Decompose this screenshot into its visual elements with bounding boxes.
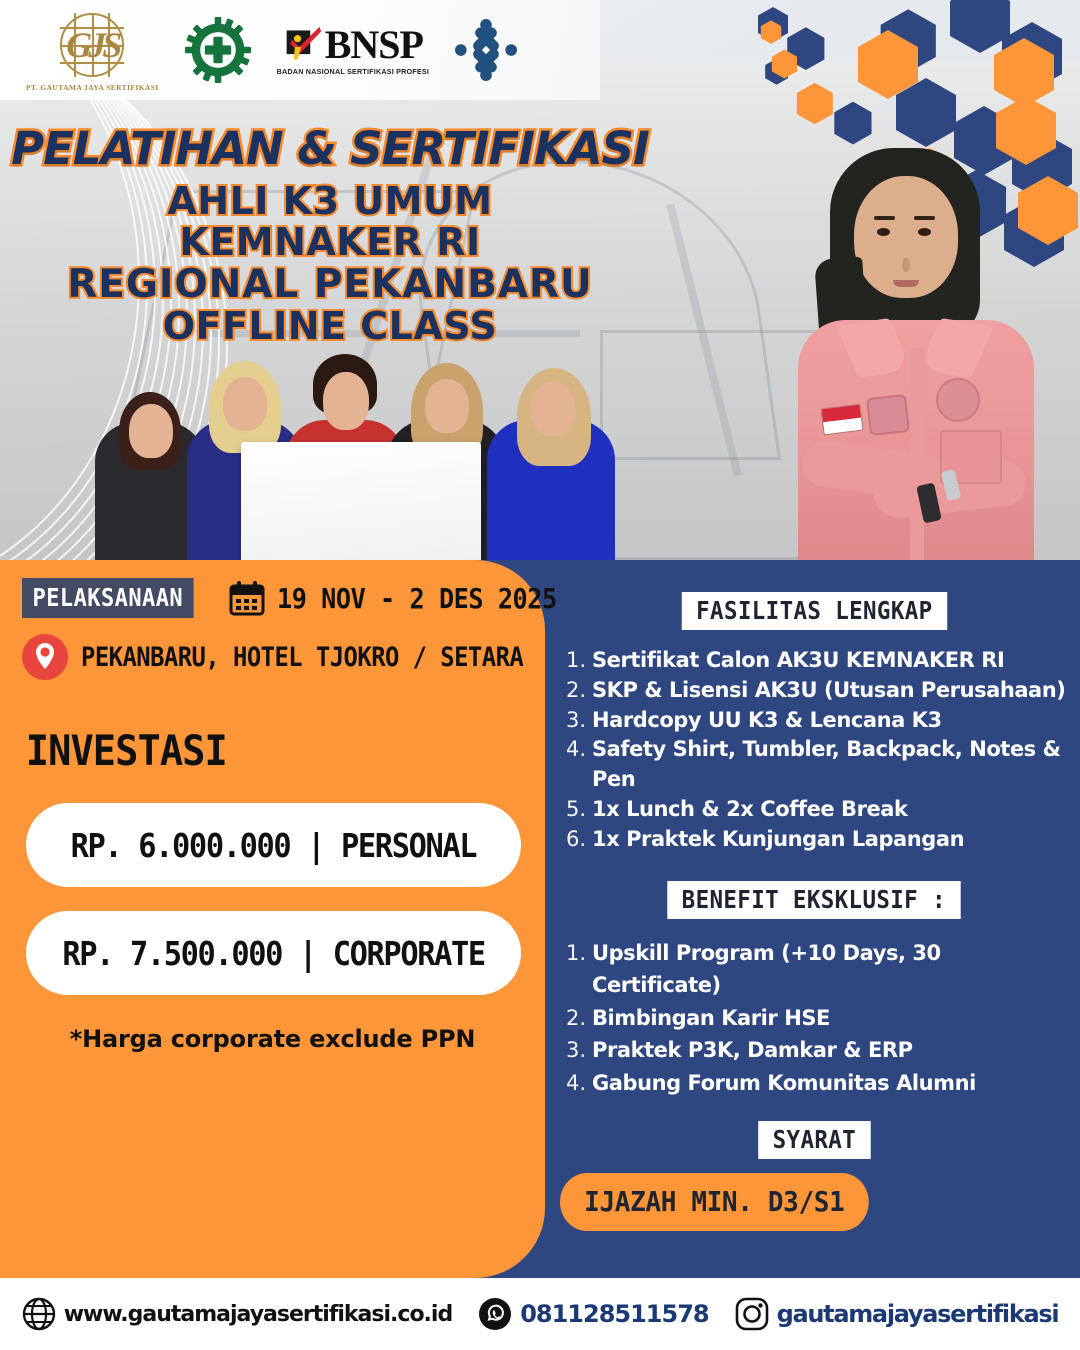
ppn-note: *Harga corporate exclude PPN [0, 1025, 545, 1053]
instagram-handle: gautamajayasertifikasi [777, 1300, 1059, 1328]
benefit-text: Praktek P3K, Damkar & ERP [592, 1034, 913, 1067]
list-item: Hardcopy UU K3 & Lencana K3 [566, 706, 1076, 736]
list-item: Gabung Forum Komunitas Alumni [566, 1067, 1076, 1100]
gear-icon [185, 17, 251, 83]
title-line-mode: OFFLINE CLASS [0, 306, 660, 347]
list-item: Upskill Program (+10 Days, 30 Certificat… [566, 937, 1076, 1002]
benefit-text: Upskill Program (+10 Days, 30 Certificat… [592, 937, 1076, 1002]
indonesia-flag-patch [821, 404, 864, 436]
facility-text: SKP & Lisensi AK3U (Utusan Perusahaan) [592, 676, 1065, 706]
website-url: www.gautamajayasertifikasi.co.id [64, 1302, 453, 1327]
benefit-text: Gabung Forum Komunitas Alumni [592, 1067, 976, 1100]
title-line-region: REGIONAL PEKANBARU [0, 264, 660, 307]
pelaksanaan-badge: PELAKSANAAN [22, 578, 194, 618]
schedule-row: PELAKSANAAN 19 NOV - 2 DES 2025 [0, 560, 545, 618]
instagram-icon [735, 1297, 769, 1331]
company-badge [936, 378, 980, 422]
facility-text: Sertifikat Calon AK3U KEMNAKER RI [592, 646, 1004, 676]
benefits-heading: BENEFIT EKSKLUSIF : [667, 881, 960, 919]
title-line-course: AHLI K3 UMUM [0, 181, 660, 222]
price-corporate-text: RP. 7.500.000 | CORPORATE [62, 934, 484, 973]
schedule-and-pricing-panel: PELAKSANAAN 19 NOV - 2 DES 2025 PEKANBAR… [0, 560, 545, 1278]
bnsp-wordmark: BNSP [325, 25, 423, 65]
title-block: PELATIHAN & SERTIFIKASI AHLI K3 UMUM KEM… [0, 126, 660, 348]
requirement-pill: IJAZAH MIN. D3/S1 [560, 1173, 869, 1231]
facility-text: 1x Lunch & 2x Coffee Break [592, 795, 908, 825]
globe-icon [22, 1297, 56, 1331]
list-item: Praktek P3K, Damkar & ERP [566, 1034, 1076, 1067]
benefits-list: Upskill Program (+10 Days, 30 Certificat… [548, 919, 1080, 1100]
shoulder-patch [866, 394, 910, 436]
logo-caption: PT. GAUTAMA JAYA SERTIFIKASI [26, 83, 159, 92]
syarat-heading: SYARAT [758, 1121, 870, 1159]
k3-safety-gear-logo [185, 17, 251, 83]
website-contact[interactable]: www.gautamajayasertifikasi.co.id [22, 1297, 453, 1331]
logo-bar: GJS PT. GAUTAMA JAYA SERTIFIKASI [0, 0, 600, 100]
price-option-personal: RP. 6.000.000 | PERSONAL [26, 803, 521, 887]
list-item: 1x Praktek Kunjungan Lapangan [566, 825, 1076, 855]
whatsapp-number: 081128511578 [520, 1300, 708, 1328]
logo-monogram: GJS [56, 9, 128, 81]
title-line-main: PELATIHAN & SERTIFIKASI [0, 126, 660, 171]
facility-text: Hardcopy UU K3 & Lencana K3 [592, 706, 942, 736]
list-item: Bimbingan Karir HSE [566, 1002, 1076, 1035]
facilities-list: Sertifikat Calon AK3U KEMNAKER RI SKP & … [548, 630, 1080, 855]
pt-gautama-jaya-sertifikasi-logo: GJS PT. GAUTAMA JAYA SERTIFIKASI [26, 9, 159, 92]
globe-icon: GJS [56, 9, 128, 81]
title-line-authority: KEMNAKER RI [0, 222, 660, 263]
knot-icon [455, 19, 517, 81]
location-pin-icon [22, 634, 68, 680]
location-row: PEKANBARU, HOTEL TJOKRO / SETARA [0, 618, 545, 680]
facility-text: 1x Praktek Kunjungan Lapangan [592, 825, 964, 855]
price-personal-text: RP. 6.000.000 | PERSONAL [71, 826, 477, 865]
list-item: 1x Lunch & 2x Coffee Break [566, 795, 1076, 825]
list-item: Safety Shirt, Tumbler, Backpack, Notes &… [566, 735, 1076, 795]
blank-banner [241, 442, 481, 570]
contact-footer: www.gautamajayasertifikasi.co.id 0811285… [0, 1278, 1080, 1350]
safety-officer-photo [792, 148, 1042, 568]
instagram-contact[interactable]: gautamajayasertifikasi [735, 1297, 1059, 1331]
price-option-corporate: RP. 7.500.000 | CORPORATE [26, 911, 521, 995]
bnsp-logo: BNSP BADAN NASIONAL SERTIFIKASI PROFESI [277, 25, 429, 76]
whatsapp-contact[interactable]: 081128511578 [478, 1297, 708, 1331]
calendar-icon [229, 580, 265, 616]
kemnaker-knot-logo [455, 19, 517, 81]
poster-root: GJS PT. GAUTAMA JAYA SERTIFIKASI [0, 0, 1080, 1350]
investasi-heading: INVESTASI [0, 680, 501, 775]
bnsp-subtitle: BADAN NASIONAL SERTIFIKASI PROFESI [277, 67, 429, 76]
facility-text: Safety Shirt, Tumbler, Backpack, Notes &… [592, 735, 1076, 795]
whatsapp-icon [478, 1297, 512, 1331]
list-item: Sertifikat Calon AK3U KEMNAKER RI [566, 646, 1076, 676]
benefit-text: Bimbingan Karir HSE [592, 1002, 830, 1035]
bnsp-mark-icon [283, 25, 323, 65]
facilities-benefits-panel: FASILITAS LENGKAP Sertifikat Calon AK3U … [548, 560, 1080, 1278]
list-item: SKP & Lisensi AK3U (Utusan Perusahaan) [566, 676, 1076, 706]
facilities-heading: FASILITAS LENGKAP [681, 592, 946, 630]
location-text: PEKANBARU, HOTEL TJOKRO / SETARA [81, 642, 523, 673]
group-photo [95, 335, 615, 570]
schedule-date: 19 NOV - 2 DES 2025 [277, 582, 557, 615]
